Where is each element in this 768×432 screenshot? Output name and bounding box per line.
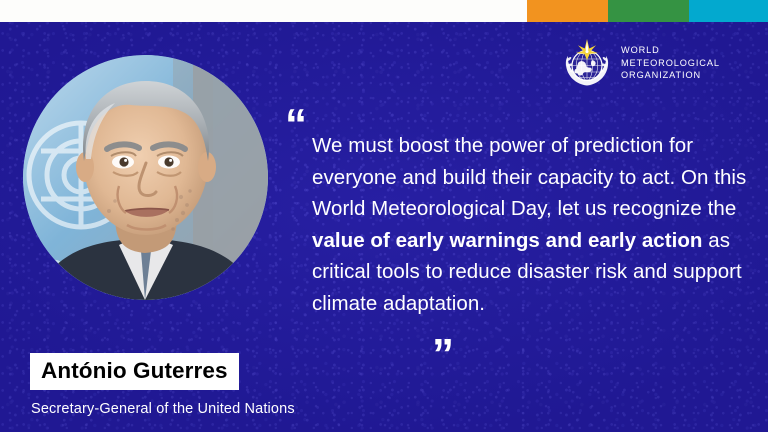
- color-swatch-green: [608, 0, 689, 22]
- color-swatch-orange: [527, 0, 608, 22]
- quote-close-mark: ”: [432, 336, 453, 374]
- poster-body: WORLD METEOROLOGICAL ORGANIZATION: [0, 22, 768, 432]
- speaker-role: Secretary-General of the United Nations: [31, 401, 295, 417]
- color-swatch-blue: [689, 0, 768, 22]
- speaker-name: António Guterres: [30, 353, 239, 390]
- quote-bold-phrase: value of early warnings and early action: [312, 229, 703, 252]
- wmo-logo-line3: ORGANIZATION: [621, 69, 720, 81]
- wmo-globe-emblem-icon: [562, 38, 612, 88]
- top-color-bar: [0, 0, 768, 22]
- quote-open-mark: “: [285, 106, 306, 144]
- portrait-avatar: [23, 55, 268, 300]
- quote-text: We must boost the power of prediction fo…: [312, 130, 754, 319]
- wmo-logo: WORLD METEOROLOGICAL ORGANIZATION: [562, 38, 720, 88]
- poster-canvas: WORLD METEOROLOGICAL ORGANIZATION: [0, 0, 768, 432]
- wmo-logo-line2: METEOROLOGICAL: [621, 57, 720, 69]
- wmo-logo-text: WORLD METEOROLOGICAL ORGANIZATION: [621, 44, 720, 81]
- quote-part-1: We must boost the power of prediction fo…: [312, 134, 746, 220]
- wmo-logo-line1: WORLD: [621, 44, 720, 56]
